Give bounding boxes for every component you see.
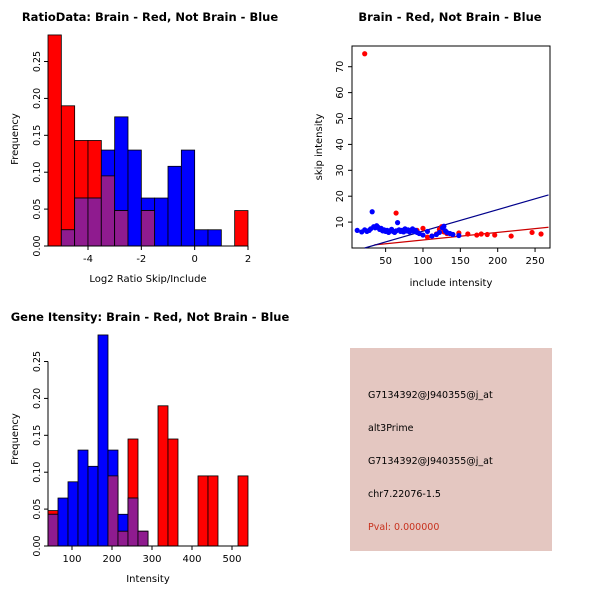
histogram-bar — [155, 198, 168, 246]
x-axis-tick-label: 2 — [245, 254, 251, 265]
ratio-histogram-plot: 0.000.050.100.150.200.25Frequency-4-202L… — [0, 0, 300, 300]
histogram-bar-overlap — [61, 230, 74, 246]
scatter-series — [362, 51, 544, 240]
scatter-point — [425, 235, 430, 240]
y-axis-tick-label: 0.00 — [32, 535, 43, 556]
histogram-bar-overlap — [48, 514, 58, 546]
scatter-point — [441, 224, 446, 229]
scatter-point — [429, 233, 434, 238]
histogram-bar — [195, 230, 208, 246]
scatter-point — [492, 232, 497, 237]
x-axis-tick-label: 250 — [526, 256, 545, 267]
histogram-bar-overlap — [115, 211, 128, 246]
scatter-point — [420, 232, 425, 237]
x-axis-tick-label: 200 — [102, 554, 121, 565]
scatter-point — [355, 228, 360, 233]
histogram-bar-overlap — [88, 198, 101, 246]
y-axis-tick-label: 0.20 — [32, 88, 43, 109]
scatter-point — [479, 231, 484, 236]
scatter-point — [425, 229, 430, 234]
histogram-bar — [58, 498, 68, 546]
y-axis-tick-label: 0.25 — [32, 351, 43, 372]
histogram-bar-overlap — [128, 498, 138, 546]
histogram-bar-overlap — [138, 531, 148, 546]
scatter-point — [529, 230, 534, 235]
histogram-bar — [98, 335, 108, 546]
scatter-point — [362, 51, 367, 56]
y-axis-tick-label: 60 — [335, 87, 346, 99]
x-axis-tick-label: 50 — [379, 256, 392, 267]
scatter-point — [538, 231, 543, 236]
histogram-bar — [158, 406, 168, 546]
y-axis-tick-label: 0.15 — [32, 425, 43, 446]
x-axis-tick-label: 300 — [142, 554, 161, 565]
histogram-bar — [181, 150, 194, 246]
histogram-bars — [48, 335, 248, 546]
scatter-series — [355, 209, 462, 239]
scatter-point — [465, 231, 470, 236]
intensity-scatter-plot: 10203040506070skip intensity501001502002… — [300, 0, 600, 300]
scatter-point — [509, 233, 514, 238]
ratio-histogram-panel: RatioData: Brain - Red, Not Brain - Blue… — [0, 0, 300, 300]
histogram-bar — [68, 482, 78, 546]
y-axis-tick-label: 0.00 — [32, 235, 43, 256]
y-axis-tick-label: 0.05 — [32, 499, 43, 520]
histogram-bar — [61, 106, 74, 246]
histogram-bar — [168, 166, 181, 246]
x-axis-label: Intensity — [126, 574, 170, 585]
gene-histogram-plot: 0.000.050.100.150.200.25Frequency1002003… — [0, 300, 300, 600]
scatter-point — [420, 226, 425, 231]
genomic-location-text: chr7.22076-1.5 — [368, 489, 441, 500]
x-axis-tick-label: 150 — [451, 256, 470, 267]
y-axis-label: Frequency — [10, 413, 21, 465]
histogram-bar — [208, 476, 218, 546]
gene-id-text: G7134392@J940355@j_at — [368, 456, 493, 467]
x-axis-tick-label: 200 — [488, 256, 507, 267]
y-axis-tick-label: 30 — [335, 164, 346, 176]
x-axis-tick-label: 500 — [222, 554, 241, 565]
splice-type-text: alt3Prime — [368, 423, 413, 434]
scatter-point — [456, 233, 461, 238]
y-axis-tick-label: 20 — [335, 190, 346, 202]
histogram-bar — [235, 211, 248, 246]
histogram-bar-overlap — [101, 176, 114, 246]
scatter-point — [395, 220, 400, 225]
probeset-id-text: G7134392@J940355@j_at — [368, 390, 493, 401]
histogram-bar — [88, 466, 98, 546]
scatter-point — [450, 232, 455, 237]
histogram-bar-overlap — [75, 198, 88, 246]
regression-line — [365, 195, 549, 248]
scatter-point — [485, 232, 490, 237]
y-axis-tick-label: 0.25 — [32, 51, 43, 72]
histogram-bar — [168, 439, 178, 546]
histogram-bar — [48, 35, 61, 246]
x-axis-label: include intensity — [410, 278, 493, 289]
x-axis-tick-label: 400 — [182, 554, 201, 565]
scatter-point — [393, 210, 398, 215]
x-axis-tick-label: 100 — [62, 554, 81, 565]
y-axis-tick-label: 0.10 — [32, 162, 43, 183]
scatter-point — [437, 230, 442, 235]
y-axis-tick-label: 50 — [335, 112, 346, 124]
y-axis-label: Frequency — [10, 113, 21, 165]
histogram-bar — [208, 230, 221, 246]
x-axis-tick-label: -2 — [136, 254, 146, 265]
scatter-point — [474, 232, 479, 237]
x-axis-tick-label: -4 — [83, 254, 93, 265]
y-axis-tick-label: 70 — [335, 61, 346, 73]
histogram-bar — [238, 476, 248, 546]
gene-histogram-panel: Gene Itensity: Brain - Red, Not Brain - … — [0, 300, 300, 600]
histogram-bar-overlap — [118, 531, 128, 546]
y-axis-label: skip intensity — [314, 114, 325, 181]
y-axis-tick-label: 0.10 — [32, 462, 43, 483]
intensity-scatter-panel: Brain - Red, Not Brain - Blue 1020304050… — [300, 0, 600, 300]
y-axis-tick-label: 0.05 — [32, 199, 43, 220]
histogram-bar — [198, 476, 208, 546]
gene-info-box: G7134392@J940355@j_at alt3Prime G7134392… — [350, 348, 552, 551]
y-axis-tick-label: 10 — [335, 216, 346, 228]
histogram-bar-overlap — [108, 476, 118, 546]
x-axis-label: Log2 Ratio Skip/Include — [89, 274, 206, 285]
pvalue-text: Pval: 0.000000 — [368, 522, 439, 533]
histogram-bar — [128, 150, 141, 246]
histogram-bar-overlap — [141, 211, 154, 246]
y-axis-tick-label: 0.20 — [32, 388, 43, 409]
histogram-bar — [78, 450, 88, 546]
gene-info-panel: G7134392@J940355@j_at alt3Prime G7134392… — [300, 300, 600, 600]
x-axis-tick-label: 100 — [413, 256, 432, 267]
y-axis-tick-label: 0.15 — [32, 125, 43, 146]
plot-frame — [352, 46, 550, 248]
histogram-bars — [48, 35, 248, 246]
scatter-point — [370, 209, 375, 214]
y-axis-tick-label: 40 — [335, 138, 346, 150]
x-axis-tick-label: 0 — [191, 254, 197, 265]
